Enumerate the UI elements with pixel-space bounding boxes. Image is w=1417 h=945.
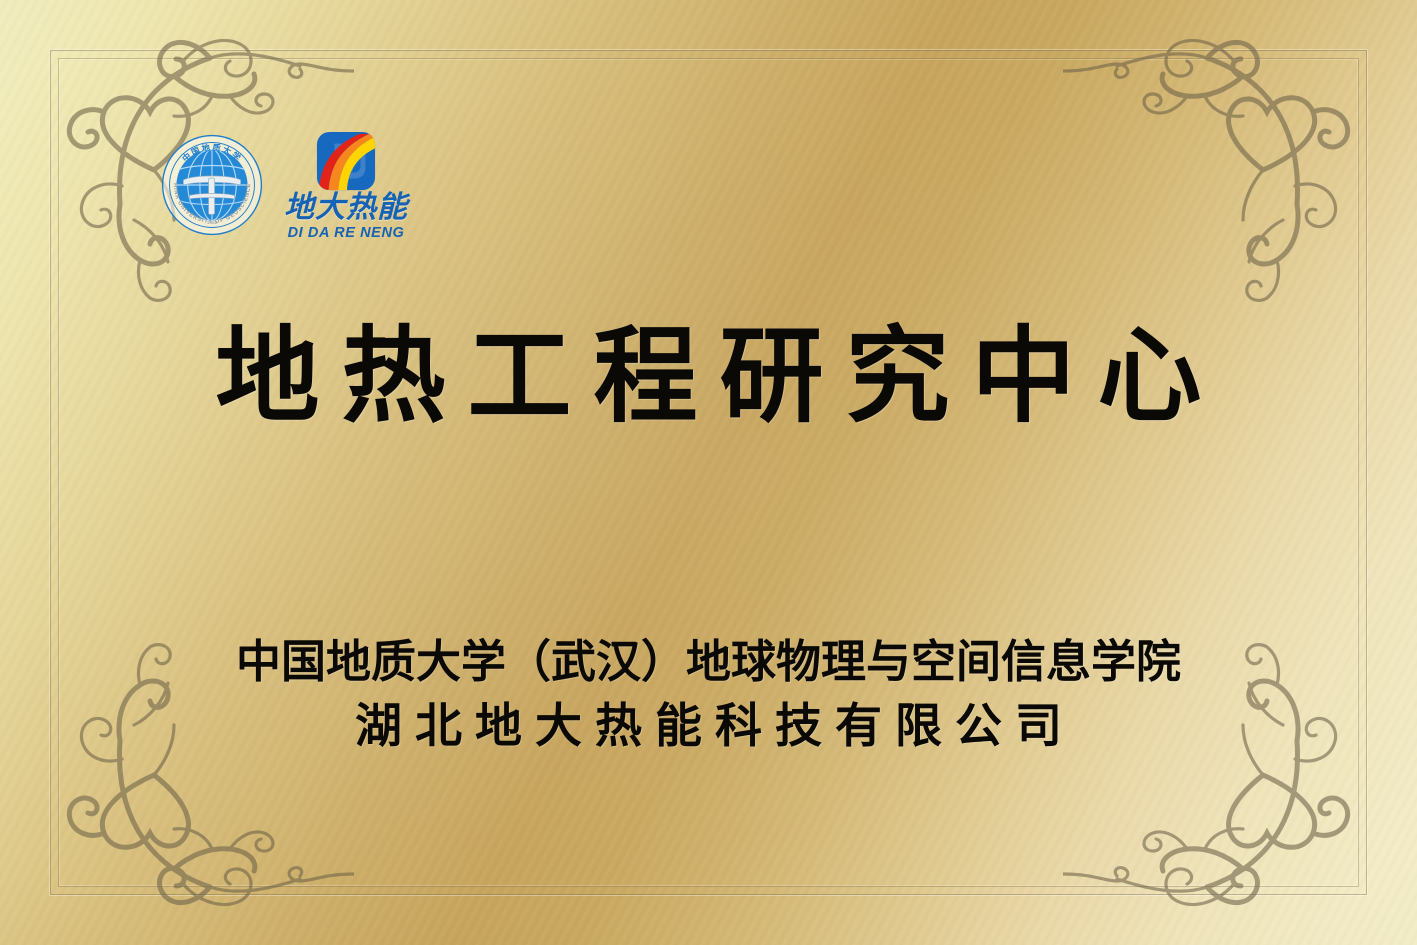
award-plaque: 中国地质大学 CHINA UNIVERSITY OF GEOSCIENCES 1… [0, 0, 1417, 945]
corner-flourish-top-right-icon [1063, 14, 1393, 304]
institution-block: 中国地质大学（武汉）地球物理与空间信息学院 湖北地大热能科技有限公司 [0, 635, 1417, 757]
company-name-pinyin: DI DA RE NENG [288, 226, 405, 241]
logo-row: 中国地质大学 CHINA UNIVERSITY OF GEOSCIENCES 1… [160, 130, 408, 241]
svg-text:1952: 1952 [207, 220, 218, 226]
company-logo: 地大热能 DI DA RE NENG [284, 130, 408, 241]
company-mark-icon [315, 130, 377, 192]
institution-line-1: 中国地质大学（武汉）地球物理与空间信息学院 [0, 635, 1417, 688]
page-title: 地热工程研究中心 [0, 322, 1417, 431]
company-name-cn: 地大热能 [284, 193, 408, 223]
institution-line-2: 湖北地大热能科技有限公司 [0, 698, 1417, 757]
university-emblem: 中国地质大学 CHINA UNIVERSITY OF GEOSCIENCES 1… [160, 133, 264, 237]
